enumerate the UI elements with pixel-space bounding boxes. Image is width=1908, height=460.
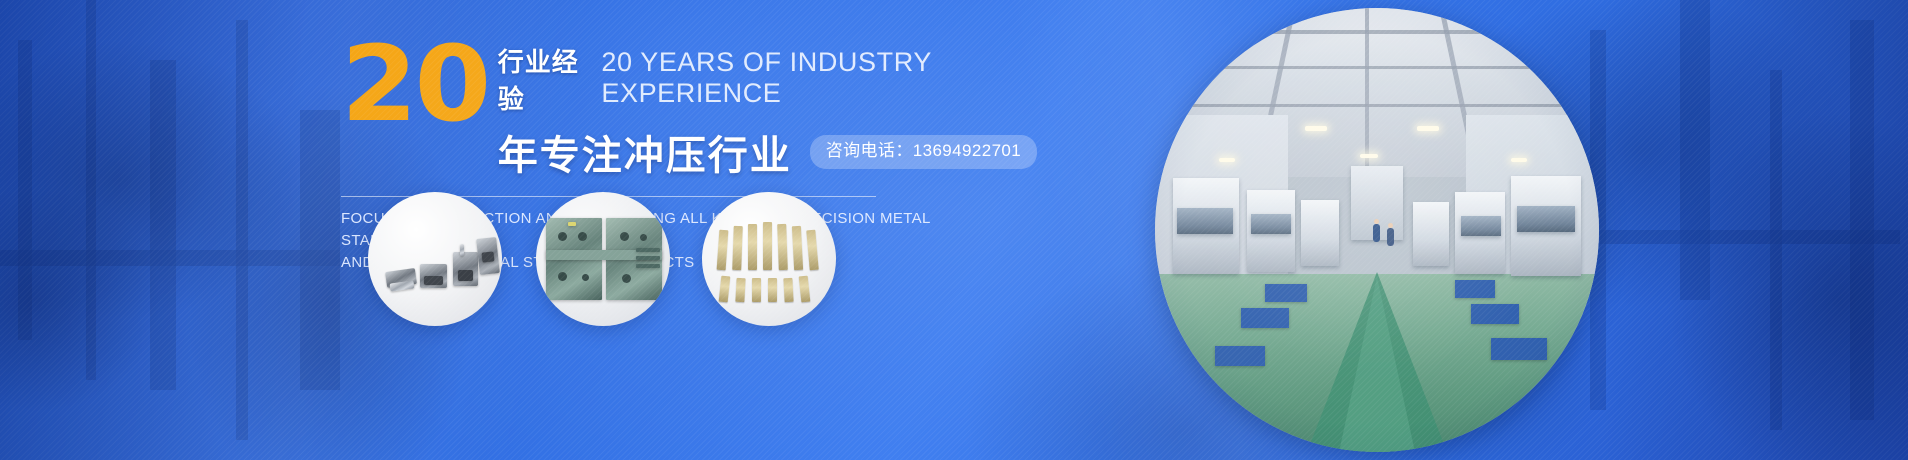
- worker-figure: [1373, 224, 1380, 242]
- en-headline: 20 YEARS OF INDUSTRY EXPERIENCE: [601, 47, 1041, 109]
- machine-panel: [1251, 214, 1291, 234]
- ceiling-beam: [1155, 30, 1599, 34]
- machine-panel: [1177, 208, 1233, 234]
- worker-figure: [1387, 228, 1394, 246]
- blue-crate: [1241, 308, 1289, 328]
- ceiling-lamp: [1219, 158, 1235, 162]
- blue-crate: [1455, 280, 1495, 298]
- headline-row-top: 行业经验 20 YEARS OF INDUSTRY EXPERIENCE: [498, 42, 1041, 116]
- ceiling-lamp: [1305, 126, 1327, 131]
- machine-unit: [1301, 200, 1339, 266]
- hero-banner: 20 行业经验 20 YEARS OF INDUSTRY EXPERIENCE …: [0, 0, 1908, 460]
- factory-aisle-center: [1339, 277, 1415, 452]
- headline-group: 20 行业经验 20 YEARS OF INDUSTRY EXPERIENCE …: [341, 38, 1041, 181]
- phone-badge[interactable]: 咨询电话：13694922701: [810, 135, 1037, 168]
- ceiling-lamp: [1511, 158, 1527, 162]
- ceiling-beam: [1155, 66, 1599, 69]
- machine-unit: [1413, 202, 1449, 266]
- factory-photo: [1155, 8, 1599, 452]
- machine-panel: [1461, 216, 1501, 236]
- machine-panel: [1517, 206, 1575, 232]
- ceiling-pipe: [1365, 8, 1369, 178]
- phone-number: 13694922701: [913, 141, 1021, 160]
- product-image-mold: [536, 192, 670, 326]
- years-number: 20: [341, 42, 488, 127]
- cn-subtitle: 行业经验: [498, 42, 590, 116]
- blue-crate: [1471, 304, 1519, 324]
- product-image-connectors: [368, 192, 502, 326]
- ceiling-beam: [1155, 104, 1599, 107]
- ceiling-lamp: [1360, 154, 1378, 158]
- phone-label: 咨询电话：: [826, 141, 913, 161]
- blue-crate: [1265, 284, 1307, 302]
- ceiling-lamp: [1417, 126, 1439, 131]
- product-image-pins: [702, 192, 836, 326]
- cn-headline: 年专注冲压行业: [498, 123, 792, 181]
- blue-crate: [1215, 346, 1265, 366]
- blue-crate: [1491, 338, 1547, 360]
- headline-row-main: 年专注冲压行业 咨询电话：13694922701: [498, 123, 1041, 181]
